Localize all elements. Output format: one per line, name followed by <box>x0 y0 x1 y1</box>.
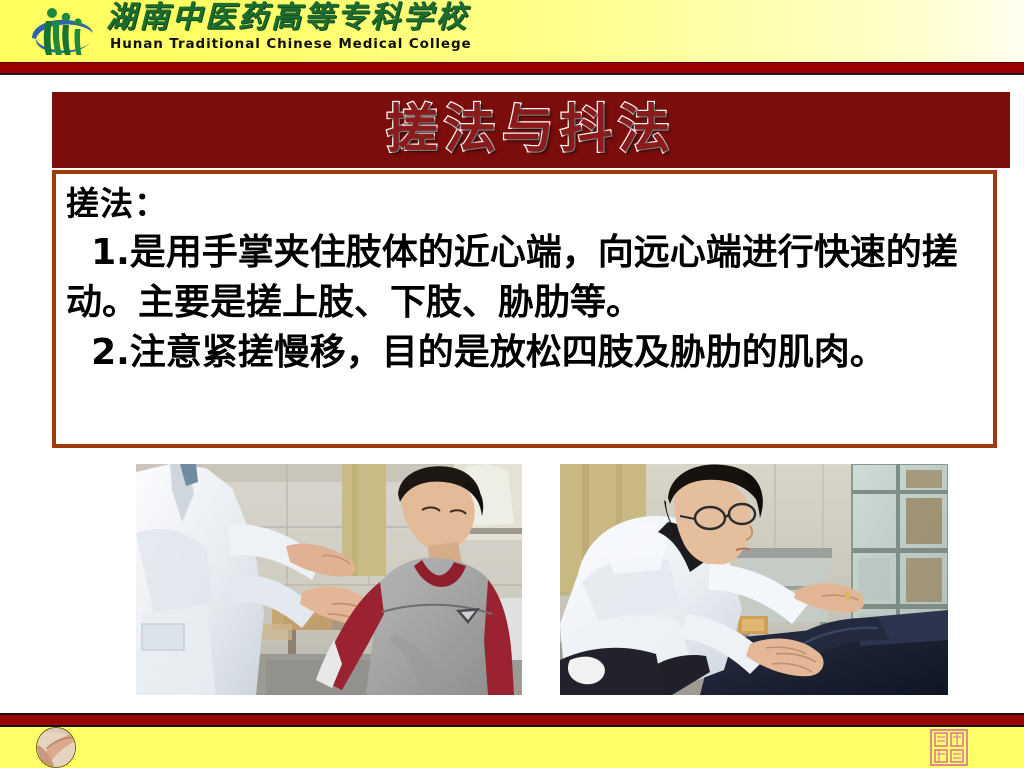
logo-title-english: Hunan Traditional Chinese Medical Colleg… <box>110 36 472 52</box>
page-title: 搓法与抖法 <box>386 100 676 160</box>
header-red-rule <box>0 62 1024 75</box>
college-logo: 湖南中医药高等专科学校 Hunan Traditional Chinese Me… <box>14 2 434 60</box>
content-heading: 搓法： <box>66 180 983 228</box>
three-figures-with-swoosh-icon <box>26 4 100 58</box>
photo-lower-limb-rubbing <box>560 464 948 695</box>
footer-band <box>0 727 1024 768</box>
content-item-1: 1.是用手掌夹住肢体的近心端，向远心端进行快速的搓动。主要是搓上肢、下肢、胁肋等… <box>66 228 983 328</box>
slide-root: 湖南中医药高等专科学校 Hunan Traditional Chinese Me… <box>0 0 1024 768</box>
decorative-seal-stamp-icon <box>930 729 968 766</box>
hands-on-arm-thumbnail-icon <box>36 727 76 768</box>
photo-upper-limb-rubbing <box>136 464 522 695</box>
content-text-box: 搓法： 1.是用手掌夹住肢体的近心端，向远心端进行快速的搓动。主要是搓上肢、下肢… <box>52 170 997 448</box>
content-item-2: 2.注意紧搓慢移，目的是放松四肢及胁肋的肌肉。 <box>66 328 983 378</box>
header-band: 湖南中医药高等专科学校 Hunan Traditional Chinese Me… <box>0 0 1024 62</box>
footer-red-rule <box>0 713 1024 727</box>
logo-title-chinese: 湖南中医药高等专科学校 <box>106 1 469 34</box>
slide-title-bar: 搓法与抖法 <box>52 92 1010 168</box>
